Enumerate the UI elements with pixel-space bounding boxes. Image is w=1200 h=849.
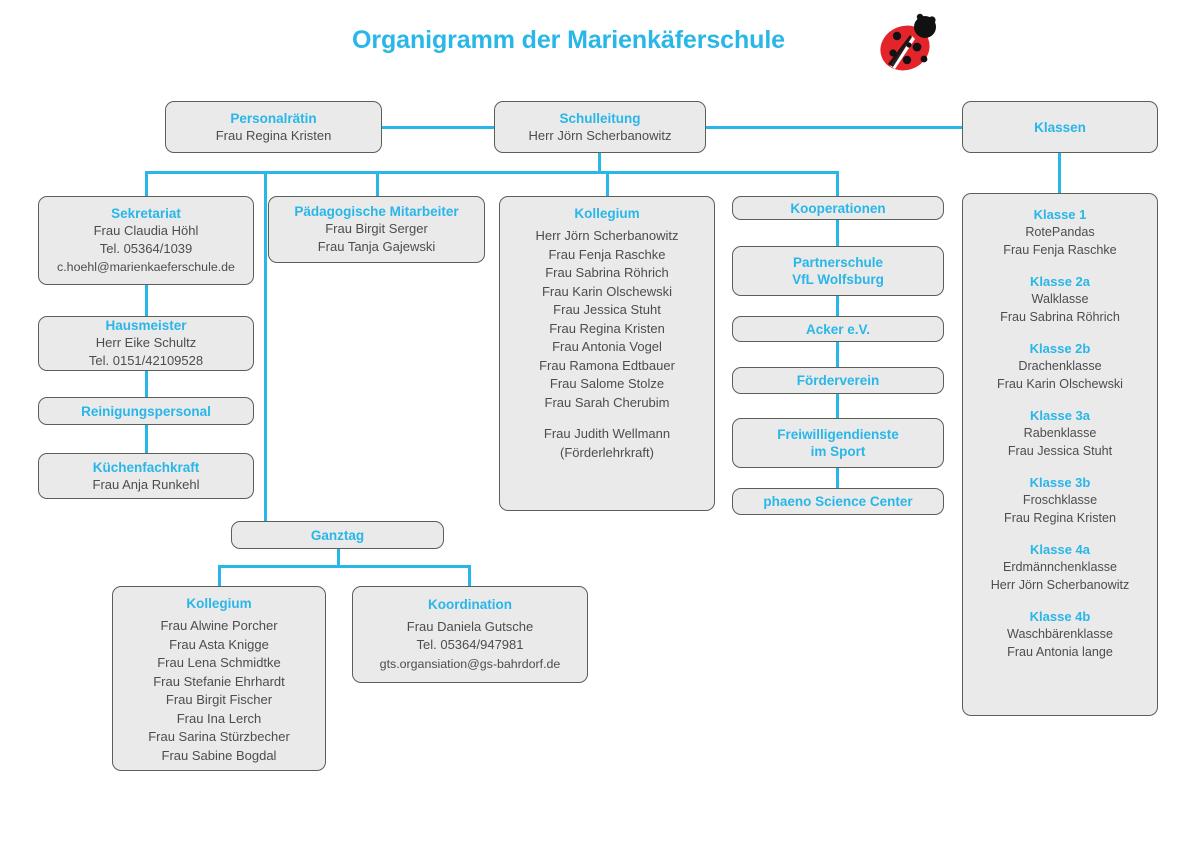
klasse-name: Klasse 1: [971, 206, 1149, 224]
klasse-nickname: Walklasse: [971, 291, 1149, 309]
node-title: Hausmeister: [105, 317, 186, 334]
list-item: Frau Regina Kristen: [535, 320, 678, 339]
klasse-name: Klasse 3b: [971, 474, 1149, 492]
list-item: (Förderlehrkraft): [535, 444, 678, 463]
node-title: Küchenfachkraft: [93, 459, 200, 476]
node-line: Herr Eike Schultz: [96, 334, 196, 352]
klasse-nickname: Froschklasse: [971, 492, 1149, 510]
klasse-teacher: Herr Jörn Scherbanowitz: [971, 577, 1149, 595]
connector-foerderverein-freiwillige: [836, 394, 839, 418]
list-item: Frau Karin Olschewski: [535, 283, 678, 302]
node-paedagogische-mitarbeiter[interactable]: Pädagogische Mitarbeiter Frau Birgit Ser…: [268, 196, 485, 263]
node-title-line1: Partnerschule: [793, 254, 883, 271]
node-koordination[interactable]: Koordination Frau Daniela Gutsche Tel. 0…: [352, 586, 588, 683]
list-item: Frau Sarina Stürzbecher: [148, 728, 290, 747]
page-title: Organigramm der Marienkäferschule: [352, 26, 785, 55]
klasse-nickname: RotePandas: [971, 224, 1149, 242]
connector-acker-foerderverein: [836, 342, 839, 367]
klasse-teacher: Frau Jessica Stuht: [971, 443, 1149, 461]
klasse-name: Klasse 4b: [971, 608, 1149, 626]
klasse-nickname: Erdmännchenklasse: [971, 559, 1149, 577]
connector-personalraetin-schulleitung: [381, 126, 494, 129]
list-item: Frau Lena Schmidtke: [148, 654, 290, 673]
node-ganztag[interactable]: Ganztag: [231, 521, 444, 549]
node-foerderverein[interactable]: Förderverein: [732, 367, 944, 394]
node-line: Herr Jörn Scherbanowitz: [528, 127, 671, 145]
connector-freiwillige-phaeno: [836, 468, 839, 488]
node-title: Sekretariat: [111, 205, 181, 222]
klasse-name: Klasse 4a: [971, 541, 1149, 559]
node-line: Frau Claudia Höhl: [94, 222, 199, 240]
list-item: Frau Ramona Edtbauer: [535, 357, 678, 376]
list-item: Frau Alwine Porcher: [148, 617, 290, 636]
node-kuechenfachkraft[interactable]: Küchenfachkraft Frau Anja Runkehl: [38, 453, 254, 499]
connector-bus-kooperationen: [836, 171, 839, 196]
node-kollegium[interactable]: Kollegium Herr Jörn Scherbanowitz Frau F…: [499, 196, 715, 511]
node-personalraetin[interactable]: Personalrätin Frau Regina Kristen: [165, 101, 382, 153]
klasse-nickname: Waschbärenklasse: [971, 626, 1149, 644]
node-line: Frau Anja Runkehl: [93, 476, 200, 494]
klasse-entry: Klasse 2b Drachenklasse Frau Karin Olsch…: [971, 340, 1149, 393]
list-item: Frau Birgit Fischer: [148, 691, 290, 710]
node-title: Reinigungspersonal: [81, 403, 211, 420]
node-title-line2: VfL Wolfsburg: [792, 271, 884, 288]
klasse-name: Klasse 3a: [971, 407, 1149, 425]
node-phaeno-science-center[interactable]: phaeno Science Center: [732, 488, 944, 515]
node-line: c.hoehl@marienkaeferschule.de: [57, 258, 235, 276]
node-title-line1: phaeno Science Center: [763, 493, 912, 510]
koordination-details: Frau Daniela Gutsche Tel. 05364/947981 g…: [380, 618, 561, 674]
node-title: Schulleitung: [560, 110, 641, 127]
list-item: Frau Asta Knigge: [148, 636, 290, 655]
list-item: Frau Antonia Vogel: [535, 338, 678, 357]
connector-bus-ganztag-trunk: [264, 171, 267, 522]
node-kooperationen-header[interactable]: Kooperationen: [732, 196, 944, 220]
node-freiwilligendienste-im-sport[interactable]: Freiwilligendienste im Sport: [732, 418, 944, 468]
klasse-entry: Klasse 4b Waschbärenklasse Frau Antonia …: [971, 608, 1149, 661]
list-item: Frau Judith Wellmann: [535, 425, 678, 444]
klasse-teacher: Frau Antonia lange: [971, 644, 1149, 662]
klasse-entry: Klasse 4a Erdmännchenklasse Herr Jörn Sc…: [971, 541, 1149, 594]
list-item: Frau Stefanie Ehrhardt: [148, 673, 290, 692]
node-ganztag-kollegium[interactable]: Kollegium Frau Alwine Porcher Frau Asta …: [112, 586, 326, 771]
klasse-entry: Klasse 3a Rabenklasse Frau Jessica Stuht: [971, 407, 1149, 460]
connector-klassen-header-list: [1058, 153, 1061, 193]
connector-bus-sekretariat: [145, 171, 148, 196]
connector-reinigung-kueche: [145, 425, 148, 453]
node-sekretariat[interactable]: Sekretariat Frau Claudia Höhl Tel. 05364…: [38, 196, 254, 285]
list-item: Frau Sabine Bogdal: [148, 747, 290, 766]
connector-bus-kollegium: [606, 171, 609, 196]
node-title: Koordination: [428, 596, 512, 613]
list-item: Frau Daniela Gutsche: [380, 618, 561, 637]
node-title: Kooperationen: [790, 200, 885, 217]
connector-hausmeister-reinigung: [145, 371, 148, 397]
node-schulleitung[interactable]: Schulleitung Herr Jörn Scherbanowitz: [494, 101, 706, 153]
connector-koop-partnerschule: [836, 220, 839, 246]
node-line: Tel. 0151/42109528: [89, 352, 203, 370]
klasse-teacher: Frau Fenja Raschke: [971, 242, 1149, 260]
kollegium-member-list: Herr Jörn Scherbanowitz Frau Fenja Rasch…: [535, 227, 678, 462]
klasse-nickname: Rabenklasse: [971, 425, 1149, 443]
node-line: Frau Regina Kristen: [216, 127, 332, 145]
node-title-line2: im Sport: [811, 443, 866, 460]
klasse-name: Klasse 2b: [971, 340, 1149, 358]
node-title: Ganztag: [311, 527, 364, 544]
connector-main-bus: [145, 171, 839, 174]
connector-ganztag-bus: [218, 565, 470, 568]
spacer: [535, 412, 678, 425]
organigramm-canvas: Organigramm der Marienkäferschule: [0, 0, 1200, 849]
node-title: Kollegium: [574, 205, 639, 222]
node-reinigungspersonal[interactable]: Reinigungspersonal: [38, 397, 254, 425]
ganztag-kollegium-list: Frau Alwine Porcher Frau Asta Knigge Fra…: [148, 617, 290, 765]
node-klassen-list[interactable]: Klasse 1 RotePandas Frau Fenja Raschke K…: [962, 193, 1158, 716]
klasse-nickname: Drachenklasse: [971, 358, 1149, 376]
connector-ganztag-koordination: [468, 565, 471, 586]
node-title-line1: Förderverein: [797, 372, 880, 389]
node-title-line1: Freiwilligendienste: [777, 426, 899, 443]
list-item: Frau Salome Stolze: [535, 375, 678, 394]
node-hausmeister[interactable]: Hausmeister Herr Eike Schultz Tel. 0151/…: [38, 316, 254, 371]
ladybug-icon: [876, 12, 940, 74]
node-partnerschule-vfl-wolfsburg[interactable]: Partnerschule VfL Wolfsburg: [732, 246, 944, 296]
list-item: Frau Sabrina Röhrich: [535, 264, 678, 283]
node-title: Personalrätin: [230, 110, 316, 127]
connector-sekretariat-hausmeister: [145, 285, 148, 316]
klasse-entry: Klasse 1 RotePandas Frau Fenja Raschke: [971, 206, 1149, 259]
node-acker-ev[interactable]: Acker e.V.: [732, 316, 944, 342]
klasse-entry: Klasse 3b Froschklasse Frau Regina Krist…: [971, 474, 1149, 527]
node-title: Kollegium: [186, 595, 251, 612]
klasse-teacher: Frau Karin Olschewski: [971, 376, 1149, 394]
list-item: Frau Fenja Raschke: [535, 246, 678, 265]
list-item: Frau Jessica Stuht: [535, 301, 678, 320]
node-title-line1: Acker e.V.: [806, 321, 870, 338]
node-klassen-header[interactable]: Klassen: [962, 101, 1158, 153]
list-item: Tel. 05364/947981: [380, 636, 561, 655]
connector-schulleitung-klassen: [706, 126, 962, 129]
connector-partnerschule-acker: [836, 296, 839, 316]
klasse-entry: Klasse 2a Walklasse Frau Sabrina Röhrich: [971, 273, 1149, 326]
connector-ganztag-kollegium: [218, 565, 221, 586]
connector-bus-paedagogische: [376, 171, 379, 196]
node-line: Frau Birgit Serger: [325, 220, 428, 238]
node-line: Tel. 05364/1039: [100, 240, 193, 258]
klasse-teacher: Frau Sabrina Röhrich: [971, 309, 1149, 327]
klasse-teacher: Frau Regina Kristen: [971, 510, 1149, 528]
klasse-name: Klasse 2a: [971, 273, 1149, 291]
node-line: Frau Tanja Gajewski: [318, 238, 436, 256]
list-item: gts.organsiation@gs-bahrdorf.de: [380, 655, 561, 674]
list-item: Frau Sarah Cherubim: [535, 394, 678, 413]
list-item: Frau Ina Lerch: [148, 710, 290, 729]
node-title: Pädagogische Mitarbeiter: [294, 203, 458, 220]
klassen-groups: Klasse 1 RotePandas Frau Fenja Raschke K…: [971, 206, 1149, 661]
node-title: Klassen: [1034, 119, 1086, 136]
list-item: Herr Jörn Scherbanowitz: [535, 227, 678, 246]
